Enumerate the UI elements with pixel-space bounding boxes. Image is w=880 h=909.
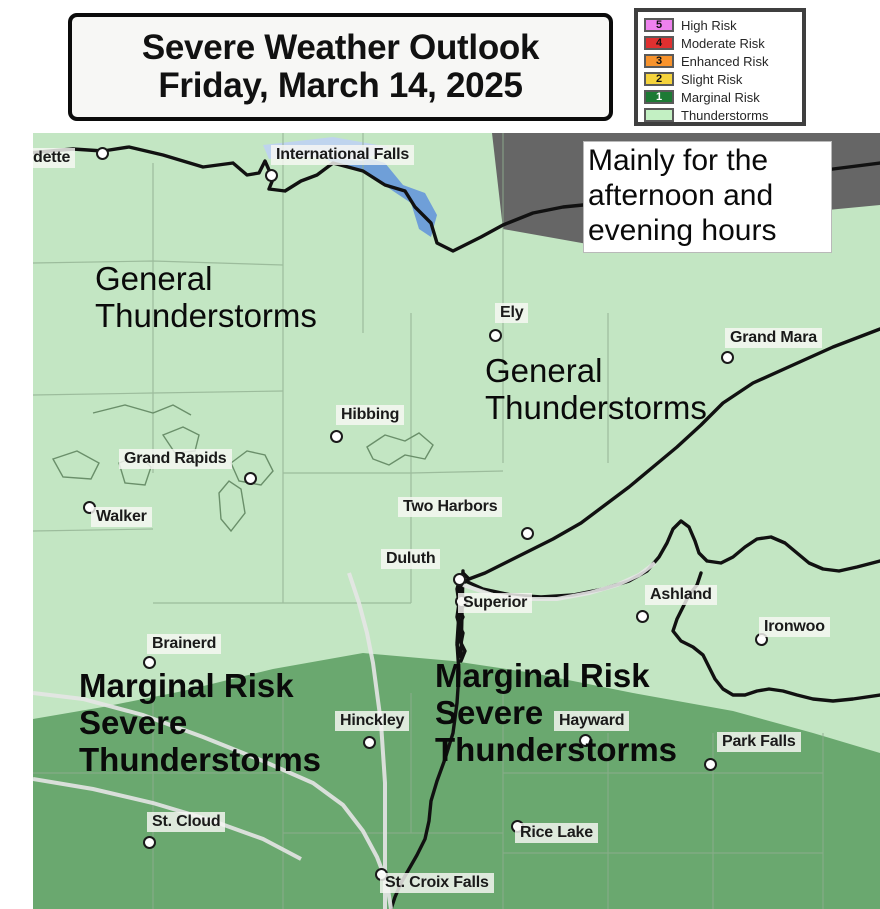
city-marker-hibbing[interactable] xyxy=(330,430,343,443)
annotation-ne-line1: General xyxy=(485,353,707,390)
timing-callout-box: Mainly for the afternoon and evening hou… xyxy=(583,141,832,253)
legend-item-high-risk: 5 High Risk xyxy=(644,16,800,34)
legend-item-enhanced-risk: 3 Enhanced Risk xyxy=(644,52,800,70)
annotation-marginal-risk-east: Marginal Risk Severe Thunderstorms xyxy=(435,658,677,769)
legend-label-marginal-risk: Marginal Risk xyxy=(681,90,760,105)
legend-swatch-high-risk: 5 xyxy=(644,18,674,32)
annotation-east-line3: Thunderstorms xyxy=(435,732,677,769)
city-marker-grand-marais[interactable] xyxy=(721,351,734,364)
legend-item-moderate-risk: 4 Moderate Risk xyxy=(644,34,800,52)
outlook-title-box: Severe Weather Outlook Friday, March 14,… xyxy=(68,13,613,121)
legend-swatch-moderate-risk: 4 xyxy=(644,36,674,50)
city-marker-grand-rapids[interactable] xyxy=(244,472,257,485)
city-marker-park-falls[interactable] xyxy=(704,758,717,771)
legend-label-slight-risk: Slight Risk xyxy=(681,72,742,87)
city-label-two-harbors: Two Harbors xyxy=(398,497,502,517)
callout-line3: evening hours xyxy=(588,214,828,249)
annotation-general-thunderstorms-northwest: General Thunderstorms xyxy=(95,261,317,335)
legend-swatch-enhanced-risk: 3 xyxy=(644,54,674,68)
city-marker-ely[interactable] xyxy=(489,329,502,342)
legend-label-moderate-risk: Moderate Risk xyxy=(681,36,765,51)
city-marker-international-falls[interactable] xyxy=(265,169,278,182)
city-label-grand-marais: Grand Mara xyxy=(725,328,822,348)
annotation-west-line2: Severe xyxy=(79,705,321,742)
city-marker-ashland[interactable] xyxy=(636,610,649,623)
city-label-baudette: dette xyxy=(33,148,75,168)
city-label-hibbing: Hibbing xyxy=(336,405,404,425)
city-marker-duluth[interactable] xyxy=(453,573,466,586)
city-label-superior: Superior xyxy=(458,593,532,613)
annotation-east-line1: Marginal Risk xyxy=(435,658,677,695)
legend-item-thunderstorms: Thunderstorms xyxy=(644,106,800,124)
legend-swatch-thunderstorms xyxy=(644,108,674,122)
legend-label-enhanced-risk: Enhanced Risk xyxy=(681,54,768,69)
annotation-nw-line2: Thunderstorms xyxy=(95,298,317,335)
legend-label-thunderstorms: Thunderstorms xyxy=(681,108,768,123)
legend-swatch-slight-risk: 2 xyxy=(644,72,674,86)
city-label-duluth: Duluth xyxy=(381,549,440,569)
annotation-general-thunderstorms-northeast: General Thunderstorms xyxy=(485,353,707,427)
annotation-west-line1: Marginal Risk xyxy=(79,668,321,705)
city-marker-hinckley[interactable] xyxy=(363,736,376,749)
city-label-ashland: Ashland xyxy=(645,585,717,605)
city-label-international-falls: International Falls xyxy=(271,145,414,165)
legend-label-high-risk: High Risk xyxy=(681,18,737,33)
legend-swatch-marginal-risk: 1 xyxy=(644,90,674,104)
legend-item-slight-risk: 2 Slight Risk xyxy=(644,70,800,88)
callout-line1: Mainly for the xyxy=(588,144,828,179)
annotation-nw-line1: General xyxy=(95,261,317,298)
city-label-ely: Ely xyxy=(495,303,528,323)
city-label-walker: Walker xyxy=(91,507,152,527)
city-label-grand-rapids: Grand Rapids xyxy=(119,449,232,469)
city-label-brainerd: Brainerd xyxy=(147,634,221,654)
city-label-hinckley: Hinckley xyxy=(335,711,409,731)
annotation-west-line3: Thunderstorms xyxy=(79,742,321,779)
city-label-ironwood: Ironwoo xyxy=(759,617,830,637)
callout-line2: afternoon and xyxy=(588,179,828,214)
city-label-st-cloud: St. Cloud xyxy=(147,812,225,832)
page-title-line1: Severe Weather Outlook xyxy=(142,29,539,67)
annotation-ne-line2: Thunderstorms xyxy=(485,390,707,427)
city-marker-baudette[interactable] xyxy=(96,147,109,160)
annotation-east-line2: Severe xyxy=(435,695,677,732)
city-marker-st-cloud[interactable] xyxy=(143,836,156,849)
page-title-line2: Friday, March 14, 2025 xyxy=(158,67,522,105)
city-label-st-croix-falls: St. Croix Falls xyxy=(380,873,494,893)
city-label-rice-lake: Rice Lake xyxy=(515,823,598,843)
city-marker-two-harbors[interactable] xyxy=(521,527,534,540)
city-label-park-falls: Park Falls xyxy=(717,732,801,752)
annotation-marginal-risk-west: Marginal Risk Severe Thunderstorms xyxy=(79,668,321,779)
legend-item-marginal-risk: 1 Marginal Risk xyxy=(644,88,800,106)
risk-legend: 5 High Risk 4 Moderate Risk 3 Enhanced R… xyxy=(634,8,806,126)
